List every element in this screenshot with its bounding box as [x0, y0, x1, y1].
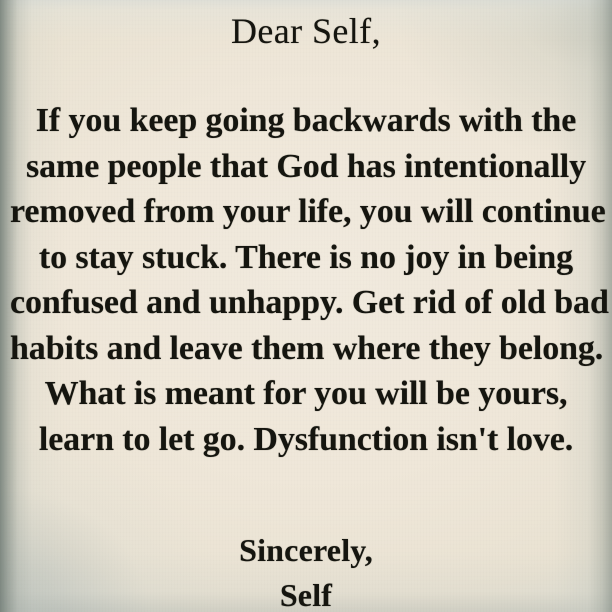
quote-poster: Dear Self, If you keep going backwards w… [0, 0, 612, 612]
quote-body-line: If you keep going backwards with the [10, 98, 602, 144]
quote-body-line: removed from your life, you will continu… [10, 189, 602, 235]
quote-body-line: to stay stuck. There is no joy in being [10, 235, 602, 281]
quote-body-line: learn to let go. Dysfunction isn't love. [10, 417, 602, 463]
quote-body-line: confused and unhappy. Get rid of old bad [10, 280, 602, 326]
closing-salutation-text: Sincerely, [0, 528, 612, 573]
quote-body: If you keep going backwards with the sam… [10, 98, 602, 462]
quote-body-line: habits and leave them where they belong. [10, 326, 602, 372]
quote-content: Dear Self, If you keep going backwards w… [0, 0, 612, 612]
quote-body-line: What is meant for you will be yours, [10, 371, 602, 417]
salutation-text: Dear Self, [0, 8, 612, 54]
quote-closing: Sincerely, Self [0, 528, 612, 612]
quote-body-line: same people that God has intentionally [10, 144, 602, 190]
closing-signature-text: Self [0, 573, 612, 612]
